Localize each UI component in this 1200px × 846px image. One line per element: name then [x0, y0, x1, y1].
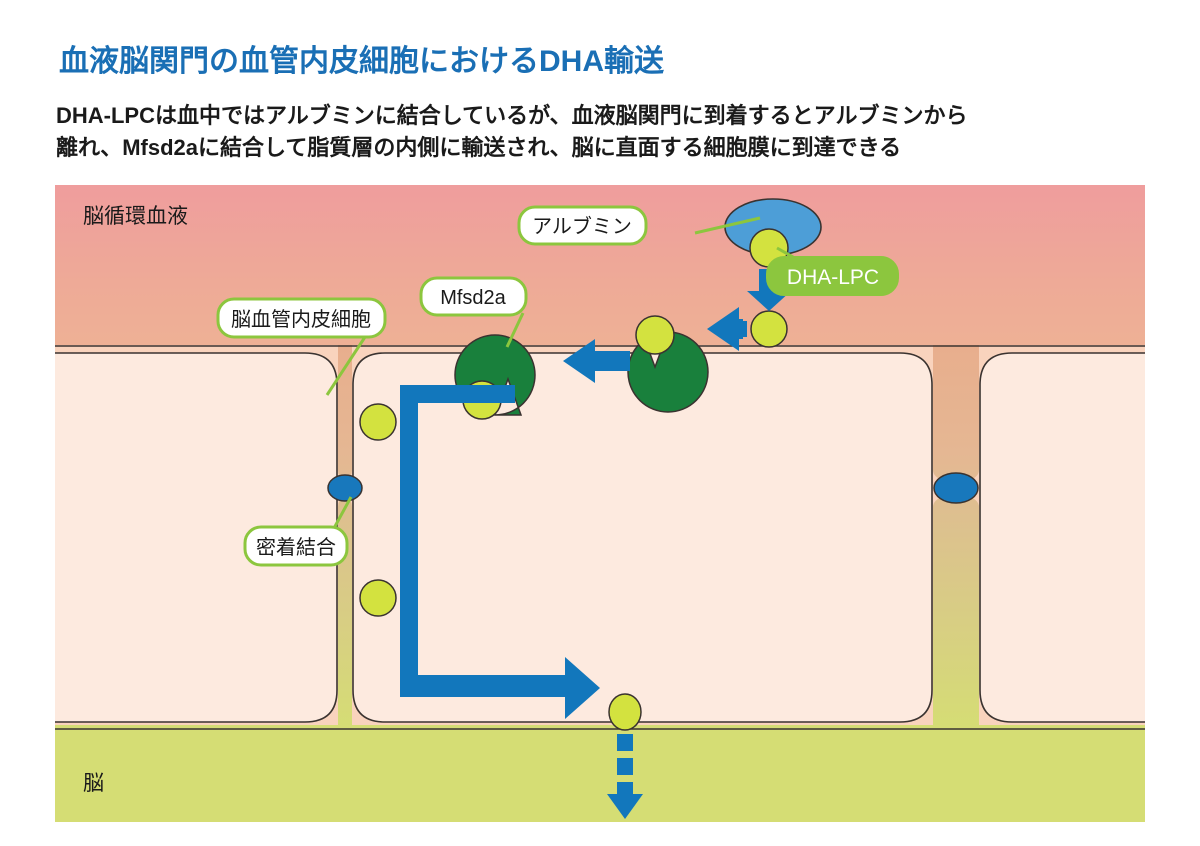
endothelial-cell-right	[980, 353, 1145, 722]
callout-tight-junction[interactable]: 密着結合	[245, 527, 347, 565]
dha-lpc-in-membrane-upper	[360, 404, 396, 440]
callout-mfsd2a-label: Mfsd2a	[440, 287, 506, 309]
tight-junction-left	[328, 475, 362, 501]
endothelial-cells	[55, 353, 1145, 722]
tight-junction-right	[934, 473, 978, 503]
diagram-figure: 脳循環血液 脳 アルブミン DHA-LPC Mfsd2a 脳血管内皮細胞 密着結…	[55, 185, 1145, 822]
callout-albumin-label: アルブミン	[532, 214, 632, 238]
dash-segment-1	[617, 734, 633, 751]
brain-region-label: 脳	[83, 772, 104, 795]
endothelial-cell-center	[353, 353, 932, 722]
subtitle-line-2: 離れ、Mfsd2aに結合して脂質層の内側に輸送され、脳に直面する細胞膜に到達でき…	[56, 132, 1166, 164]
callout-endothelial-label: 脳血管内皮細胞	[231, 308, 371, 331]
callout-albumin[interactable]: アルブミン	[519, 207, 646, 244]
callout-endothelial-cell[interactable]: 脳血管内皮細胞	[218, 299, 385, 337]
dash-segment-2	[617, 758, 633, 775]
callout-mfsd2a[interactable]: Mfsd2a	[421, 278, 526, 315]
callout-tight-junction-label: 密着結合	[256, 536, 336, 559]
page-root: 血液脳関門の血管内皮細胞におけるDHA輸送 DHA-LPCは血中ではアルブミンに…	[0, 0, 1200, 846]
page-subtitle: DHA-LPCは血中ではアルブミンに結合しているが、血液脳関門に到着するとアルブ…	[56, 100, 1166, 164]
dha-lpc-at-basal-membrane	[609, 694, 641, 730]
page-title: 血液脳関門の血管内皮細胞におけるDHA輸送	[59, 36, 664, 80]
blood-region-label: 脳循環血液	[83, 205, 188, 228]
callout-dha-lpc-label: DHA-LPC	[787, 266, 879, 289]
dha-lpc-on-transporter-right	[636, 316, 674, 354]
brain-region	[55, 725, 1145, 822]
dha-lpc-free-in-blood	[751, 311, 787, 347]
dha-lpc-in-membrane-lower	[360, 580, 396, 616]
callout-dha-lpc[interactable]: DHA-LPC	[767, 257, 898, 295]
dash-segment-3	[617, 782, 633, 794]
intercellular-gap-right	[933, 345, 979, 730]
bbb-transport-diagram: 脳循環血液 脳 アルブミン DHA-LPC Mfsd2a 脳血管内皮細胞 密着結…	[55, 185, 1145, 822]
arrow-left-to-transporter-body	[739, 321, 747, 337]
subtitle-line-1: DHA-LPCは血中ではアルブミンに結合しているが、血液脳関門に到着するとアルブ…	[56, 100, 1166, 132]
